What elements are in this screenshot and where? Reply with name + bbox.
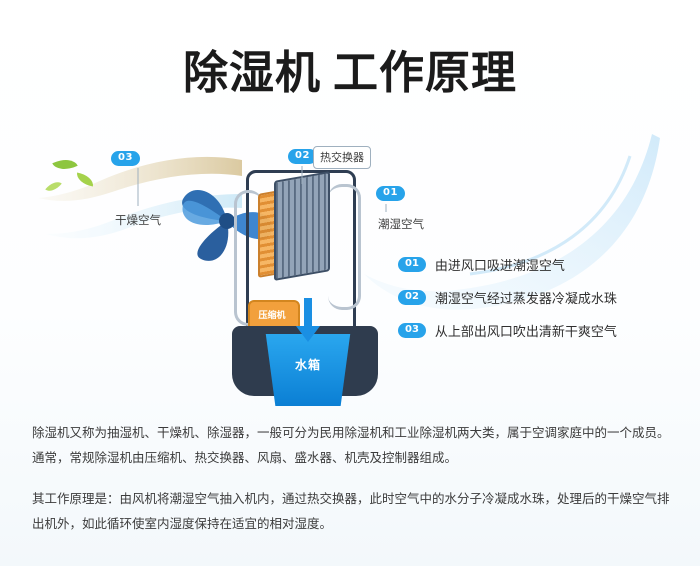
- step-badge: 01: [398, 257, 426, 272]
- dehumidifier-machine: 压缩机 水箱: [228, 150, 388, 395]
- page-root: 除湿机工作原理: [0, 0, 700, 566]
- label-dry-air: 干燥空气: [115, 212, 161, 228]
- label-heat-exchanger: 热交换器: [313, 146, 371, 169]
- water-tank-label: 水箱: [280, 356, 336, 373]
- label-humid-air: 潮湿空气: [378, 216, 424, 232]
- page-title: 除湿机工作原理: [0, 36, 700, 101]
- step-badge: 02: [398, 290, 426, 305]
- paragraph-1: 除湿机又称为抽湿机、干燥机、除湿器，一般可分为民用除湿机和工业除湿机两大类，属于…: [32, 420, 672, 470]
- step-text: 由进风口吸进潮湿空气: [435, 255, 565, 274]
- badge-humid-air: 01: [376, 186, 405, 201]
- water-flow-arrow-icon: [292, 298, 322, 344]
- steps-list: 01 由进风口吸进潮湿空气 02 潮湿空气经过蒸发器冷凝成水珠 03 从上部出风…: [398, 255, 688, 354]
- paragraph-2: 其工作原理是：由风机将潮湿空气抽入机内，通过热交换器，此时空气中的水分子冷凝成水…: [32, 486, 672, 536]
- description-text: 除湿机又称为抽湿机、干燥机、除湿器，一般可分为民用除湿机和工业除湿机两大类，属于…: [32, 420, 672, 552]
- refrigerant-pipe: [328, 184, 361, 310]
- list-item: 02 潮湿空气经过蒸发器冷凝成水珠: [398, 288, 688, 307]
- title-part-2: 工作原理: [333, 46, 517, 99]
- evaporator-coil: [274, 171, 330, 281]
- title-part-1: 除湿机: [183, 46, 321, 99]
- list-item: 01 由进风口吸进潮湿空气: [398, 255, 688, 274]
- step-text: 从上部出风口吹出清新干爽空气: [435, 321, 617, 340]
- step-badge: 03: [398, 323, 426, 338]
- step-text: 潮湿空气经过蒸发器冷凝成水珠: [435, 288, 617, 307]
- list-item: 03 从上部出风口吹出清新干爽空气: [398, 321, 688, 340]
- badge-dry-air: 03: [111, 151, 140, 166]
